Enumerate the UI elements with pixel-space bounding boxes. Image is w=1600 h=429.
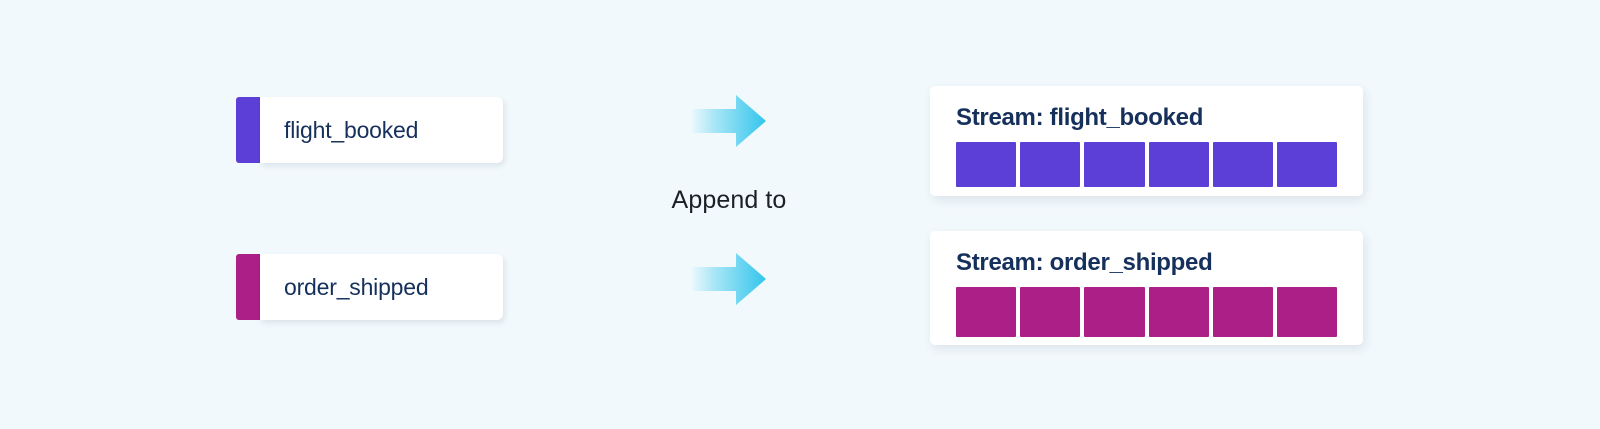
stream-segment	[1277, 287, 1337, 337]
event-card-body: order_shipped	[260, 254, 503, 320]
event-card-order-shipped[interactable]: order_shipped	[236, 254, 503, 320]
stream-panel-order-shipped: Stream: order_shipped	[930, 231, 1363, 345]
event-accent-bar-flight-booked	[236, 97, 260, 163]
stream-segment	[956, 287, 1016, 337]
stream-segment	[1084, 287, 1144, 337]
stream-segment	[1277, 142, 1337, 187]
stream-segment-track	[956, 142, 1337, 187]
diagram-canvas: flight_booked order_shipped	[0, 0, 1600, 429]
stream-panel-flight-booked: Stream: flight_booked	[930, 86, 1363, 196]
stream-segment	[1213, 287, 1273, 337]
stream-segment	[1149, 142, 1209, 187]
stream-title-flight-booked: Stream: flight_booked	[956, 104, 1337, 132]
stream-segment	[1084, 142, 1144, 187]
stream-segment	[956, 142, 1016, 187]
stream-segment	[1020, 142, 1080, 187]
event-card-body: flight_booked	[260, 97, 503, 163]
stream-segment-track	[956, 287, 1337, 337]
stream-segment	[1149, 287, 1209, 337]
event-accent-bar-order-shipped	[236, 254, 260, 320]
event-label-flight-booked: flight_booked	[284, 117, 418, 144]
arrow-right-icon	[692, 253, 766, 305]
event-label-order-shipped: order_shipped	[284, 274, 428, 301]
stream-segment	[1020, 287, 1080, 337]
arrow-right-icon	[692, 95, 766, 147]
append-to-caption: Append to	[654, 186, 804, 215]
stream-segment	[1213, 142, 1273, 187]
stream-title-order-shipped: Stream: order_shipped	[956, 249, 1337, 277]
event-card-flight-booked[interactable]: flight_booked	[236, 97, 503, 163]
